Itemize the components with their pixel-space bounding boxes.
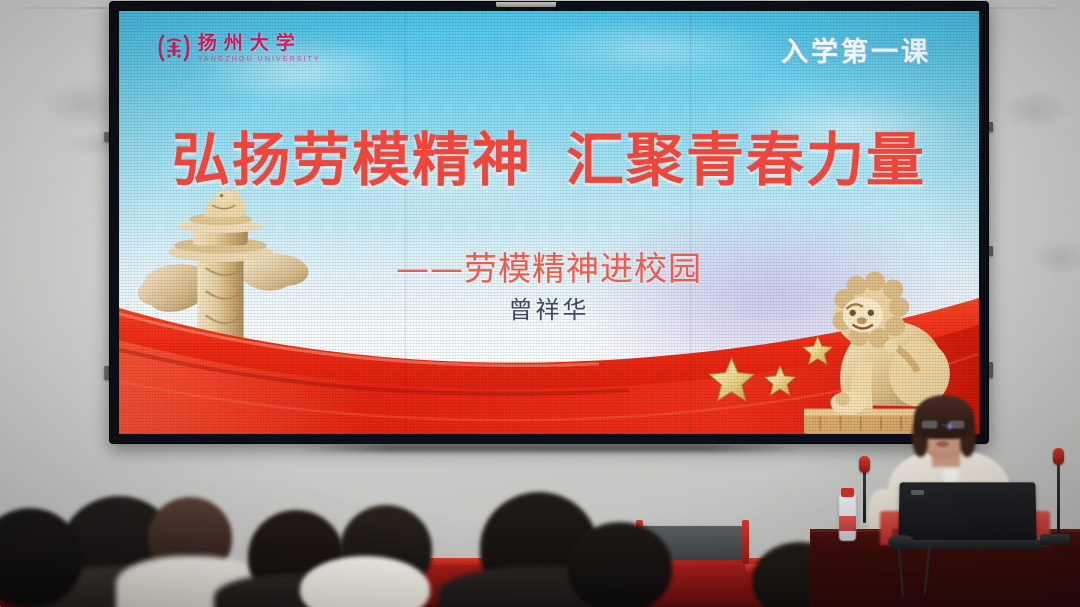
microphone-stem bbox=[1057, 461, 1060, 535]
microphone-head bbox=[859, 456, 870, 473]
bottle-label bbox=[839, 516, 856, 531]
laptop-logo bbox=[911, 490, 924, 495]
lecture-hall-scene: 扬州大学 YANGZHOU UNIVERSITY 入学第一课 弘扬劳模精神汇聚青… bbox=[0, 0, 1080, 607]
chair-post bbox=[742, 520, 749, 564]
microphone-stem bbox=[863, 469, 866, 523]
room-foreground bbox=[0, 0, 1080, 607]
wall-shadow-strip bbox=[300, 444, 800, 452]
computer-mouse bbox=[888, 535, 914, 547]
audience-head bbox=[568, 522, 672, 607]
microphone-base bbox=[1040, 534, 1070, 545]
laptop-base bbox=[892, 540, 1044, 549]
speaker-mouth bbox=[936, 441, 949, 447]
speaker-hair bbox=[914, 395, 974, 439]
bottle-cap bbox=[841, 488, 854, 497]
lens-glint bbox=[945, 423, 954, 430]
microphone-head bbox=[1053, 448, 1064, 465]
glasses-lens-left bbox=[921, 420, 938, 429]
